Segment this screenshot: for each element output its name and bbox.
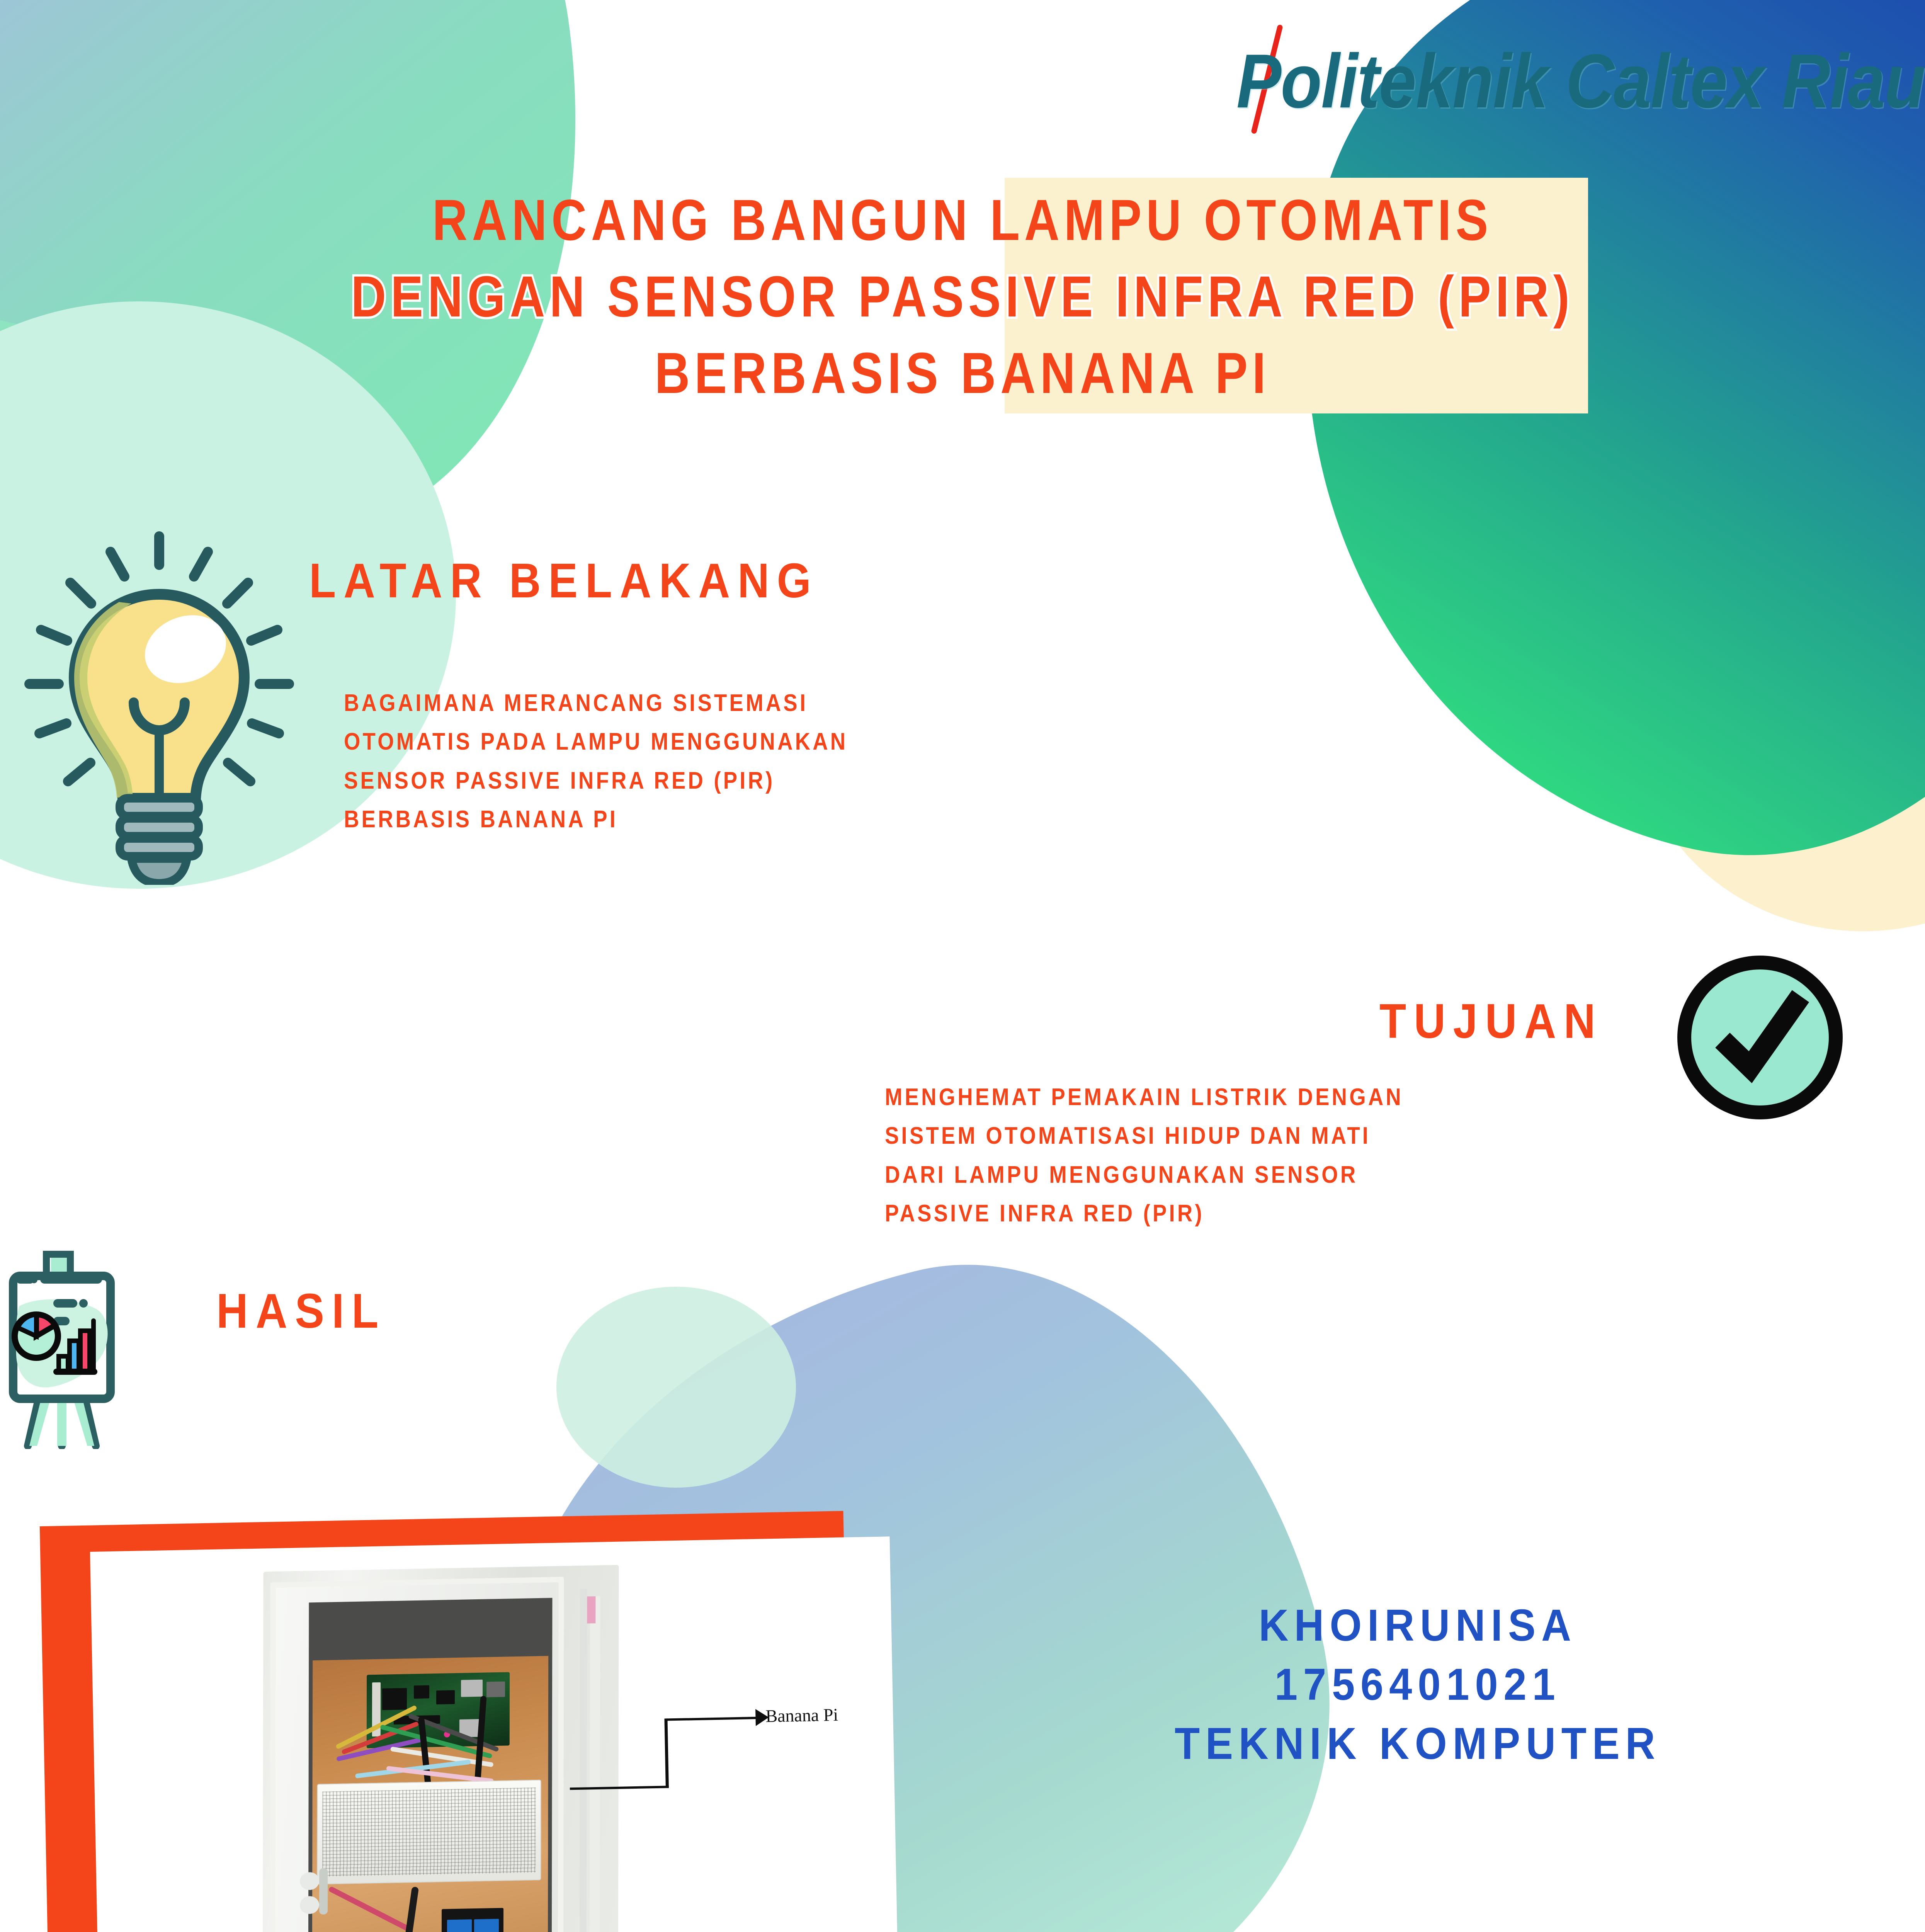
- latar-line-4: BERBASIS BANANA PI: [344, 800, 848, 839]
- photo-label-banana-pi: Banana Pi: [765, 1704, 838, 1726]
- section-heading-hasil: HASIL: [216, 1283, 386, 1339]
- enclosure-cavity: [308, 1598, 553, 1932]
- photo-card: Banana Pi Projectboard Relay: [90, 1536, 903, 1932]
- latar-line-2: OTOMATIS PADA LAMPU MENGGUNAKAN: [344, 723, 848, 761]
- arrow-head-banana-pi: [755, 1709, 769, 1726]
- arrow-line-banana-pi: [665, 1717, 758, 1721]
- background-blob-top-right-gradient: [1207, 0, 1925, 918]
- poster-canvas: Politeknik Caltex Riau RANCANG BANGUN LA…: [0, 0, 1925, 1932]
- tujuan-line-4: PASSIVE INFRA RED (PIR): [885, 1194, 1403, 1233]
- background-blob-top-right-cream: [1635, 514, 1925, 931]
- institution-logo: Politeknik Caltex Riau: [1236, 27, 1901, 131]
- lightbulb-icon: [15, 522, 301, 885]
- latar-line-3: SENSOR PASSIVE INFRA RED (PIR): [344, 762, 848, 800]
- student-program: TEKNIK KOMPUTER: [1175, 1714, 1661, 1773]
- breadboard: [317, 1780, 541, 1884]
- presentation-chart-icon: [8, 1233, 232, 1449]
- student-nim: 1756401021: [1175, 1655, 1661, 1714]
- section-heading-latar-belakang: LATAR BELAKANG: [309, 553, 819, 609]
- relay-module: [442, 1908, 503, 1932]
- title-line-3: BERBASIS BANANA PI: [154, 335, 1771, 411]
- enclosure-body: [262, 1565, 619, 1932]
- background-blob-hasil-mint: [556, 1287, 796, 1488]
- section-body-tujuan: MENGHEMAT PEMAKAIN LISTRIK DENGAN SISTEM…: [885, 1078, 1403, 1233]
- page-title: RANCANG BANGUN LAMPU OTOMATIS DENGAN SEN…: [154, 182, 1771, 411]
- section-body-latar-belakang: BAGAIMANA MERANCANG SISTEMASI OTOMATIS P…: [344, 684, 848, 839]
- check-circle-icon: [1673, 954, 1847, 1121]
- arrow-stem-banana-pi: [664, 1718, 668, 1788]
- title-line-1: RANCANG BANGUN LAMPU OTOMATIS: [154, 182, 1771, 258]
- student-name: KHOIRUNISA: [1175, 1596, 1661, 1655]
- title-line-2: DENGAN SENSOR PASSIVE INFRA RED (PIR): [154, 258, 1771, 335]
- latar-line-1: BAGAIMANA MERANCANG SISTEMASI: [344, 684, 848, 723]
- tujuan-line-3: DARI LAMPU MENGGUNAKAN SENSOR: [885, 1156, 1403, 1194]
- project-photo: Banana Pi Projectboard Relay: [43, 1507, 885, 1932]
- student-info: KHOIRUNISA 1756401021 TEKNIK KOMPUTER: [1175, 1596, 1661, 1773]
- tujuan-line-2: SISTEM OTOMATISASI HIDUP DAN MATI: [885, 1117, 1403, 1155]
- logo-wordmark: Politeknik Caltex Riau: [1236, 37, 1925, 125]
- tujuan-line-1: MENGHEMAT PEMAKAIN LISTRIK DENGAN: [885, 1078, 1403, 1117]
- section-heading-tujuan: TUJUAN: [1379, 993, 1603, 1049]
